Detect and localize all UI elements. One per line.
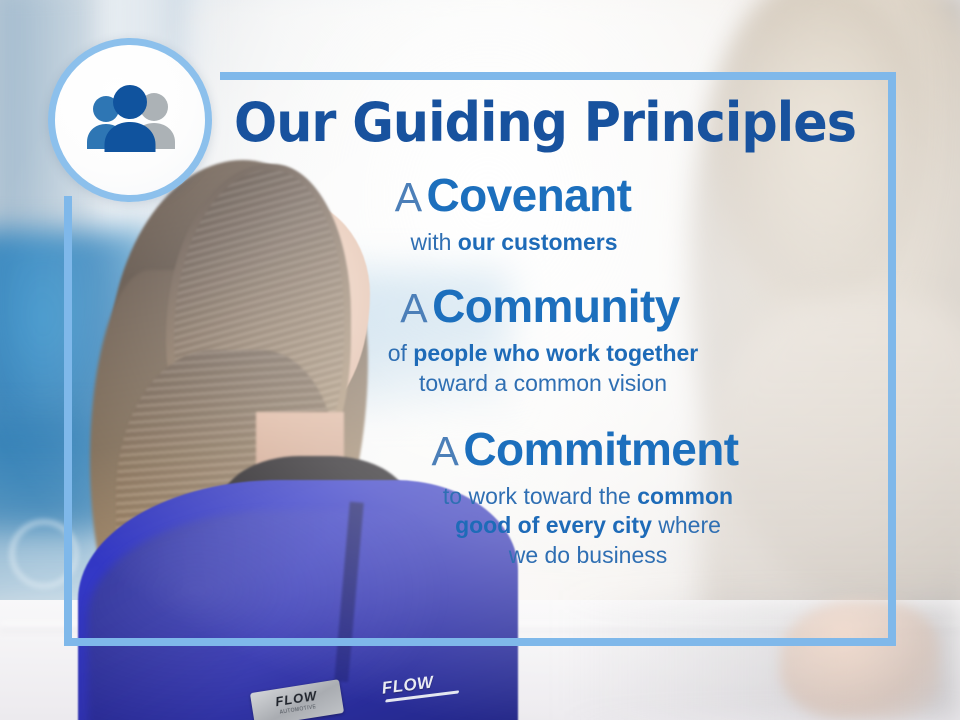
blurred-dealer-logo [10,520,78,588]
principle-2-sub-lead: of [388,340,414,366]
principle-1-article: A [395,174,422,220]
principle-1-keyword: Covenant [427,169,632,221]
principle-2-subtext: of people who work together toward a com… [200,339,890,398]
principle-3-sub-strong: common [637,483,733,509]
principle-2-keyword: Community [432,280,680,332]
principle-2-sub-strong: people who work together [413,340,698,366]
principle-community: A Community of people who work together … [200,283,890,398]
principle-3-article: A [432,428,459,474]
principle-3-sub-tail: where [652,512,721,538]
principle-2-sub-line-2: toward a common vision [200,369,886,398]
principle-2-article: A [400,285,427,331]
principle-2-heading: A Community [200,283,890,330]
principle-1-heading: A Covenant [200,172,890,219]
people-group-icon [78,83,182,157]
principle-3-sub-line-3: we do business [286,541,890,570]
principle-covenant: A Covenant with our customers [200,172,890,257]
principle-3-heading: A Commitment [200,426,890,473]
principle-1-subtext: with our customers [200,228,890,257]
principle-commitment: A Commitment to work toward the common g… [200,426,890,570]
principle-1-sub-lead: with [410,229,457,255]
principle-1-sub-strong: our customers [458,229,618,255]
principle-3-keyword: Commitment [463,423,738,475]
page-title: Our Guiding Principles [221,96,870,150]
people-badge [48,38,212,202]
principles-content: Our Guiding Principles A Covenant with o… [200,70,890,650]
principle-3-sub-strong-2: good of every city [455,512,652,538]
principle-3-sub-line-2: good of every city where [286,511,890,540]
principle-2-sub-line-1: of people who work together [200,339,886,368]
principle-3-subtext: to work toward the common good of every … [200,482,890,570]
principle-3-sub-line-1: to work toward the common [286,482,890,511]
guiding-principles-poster: FLOW AUTOMOTIVE FLOW [0,0,960,720]
principle-3-sub-lead: to work toward the [443,483,637,509]
